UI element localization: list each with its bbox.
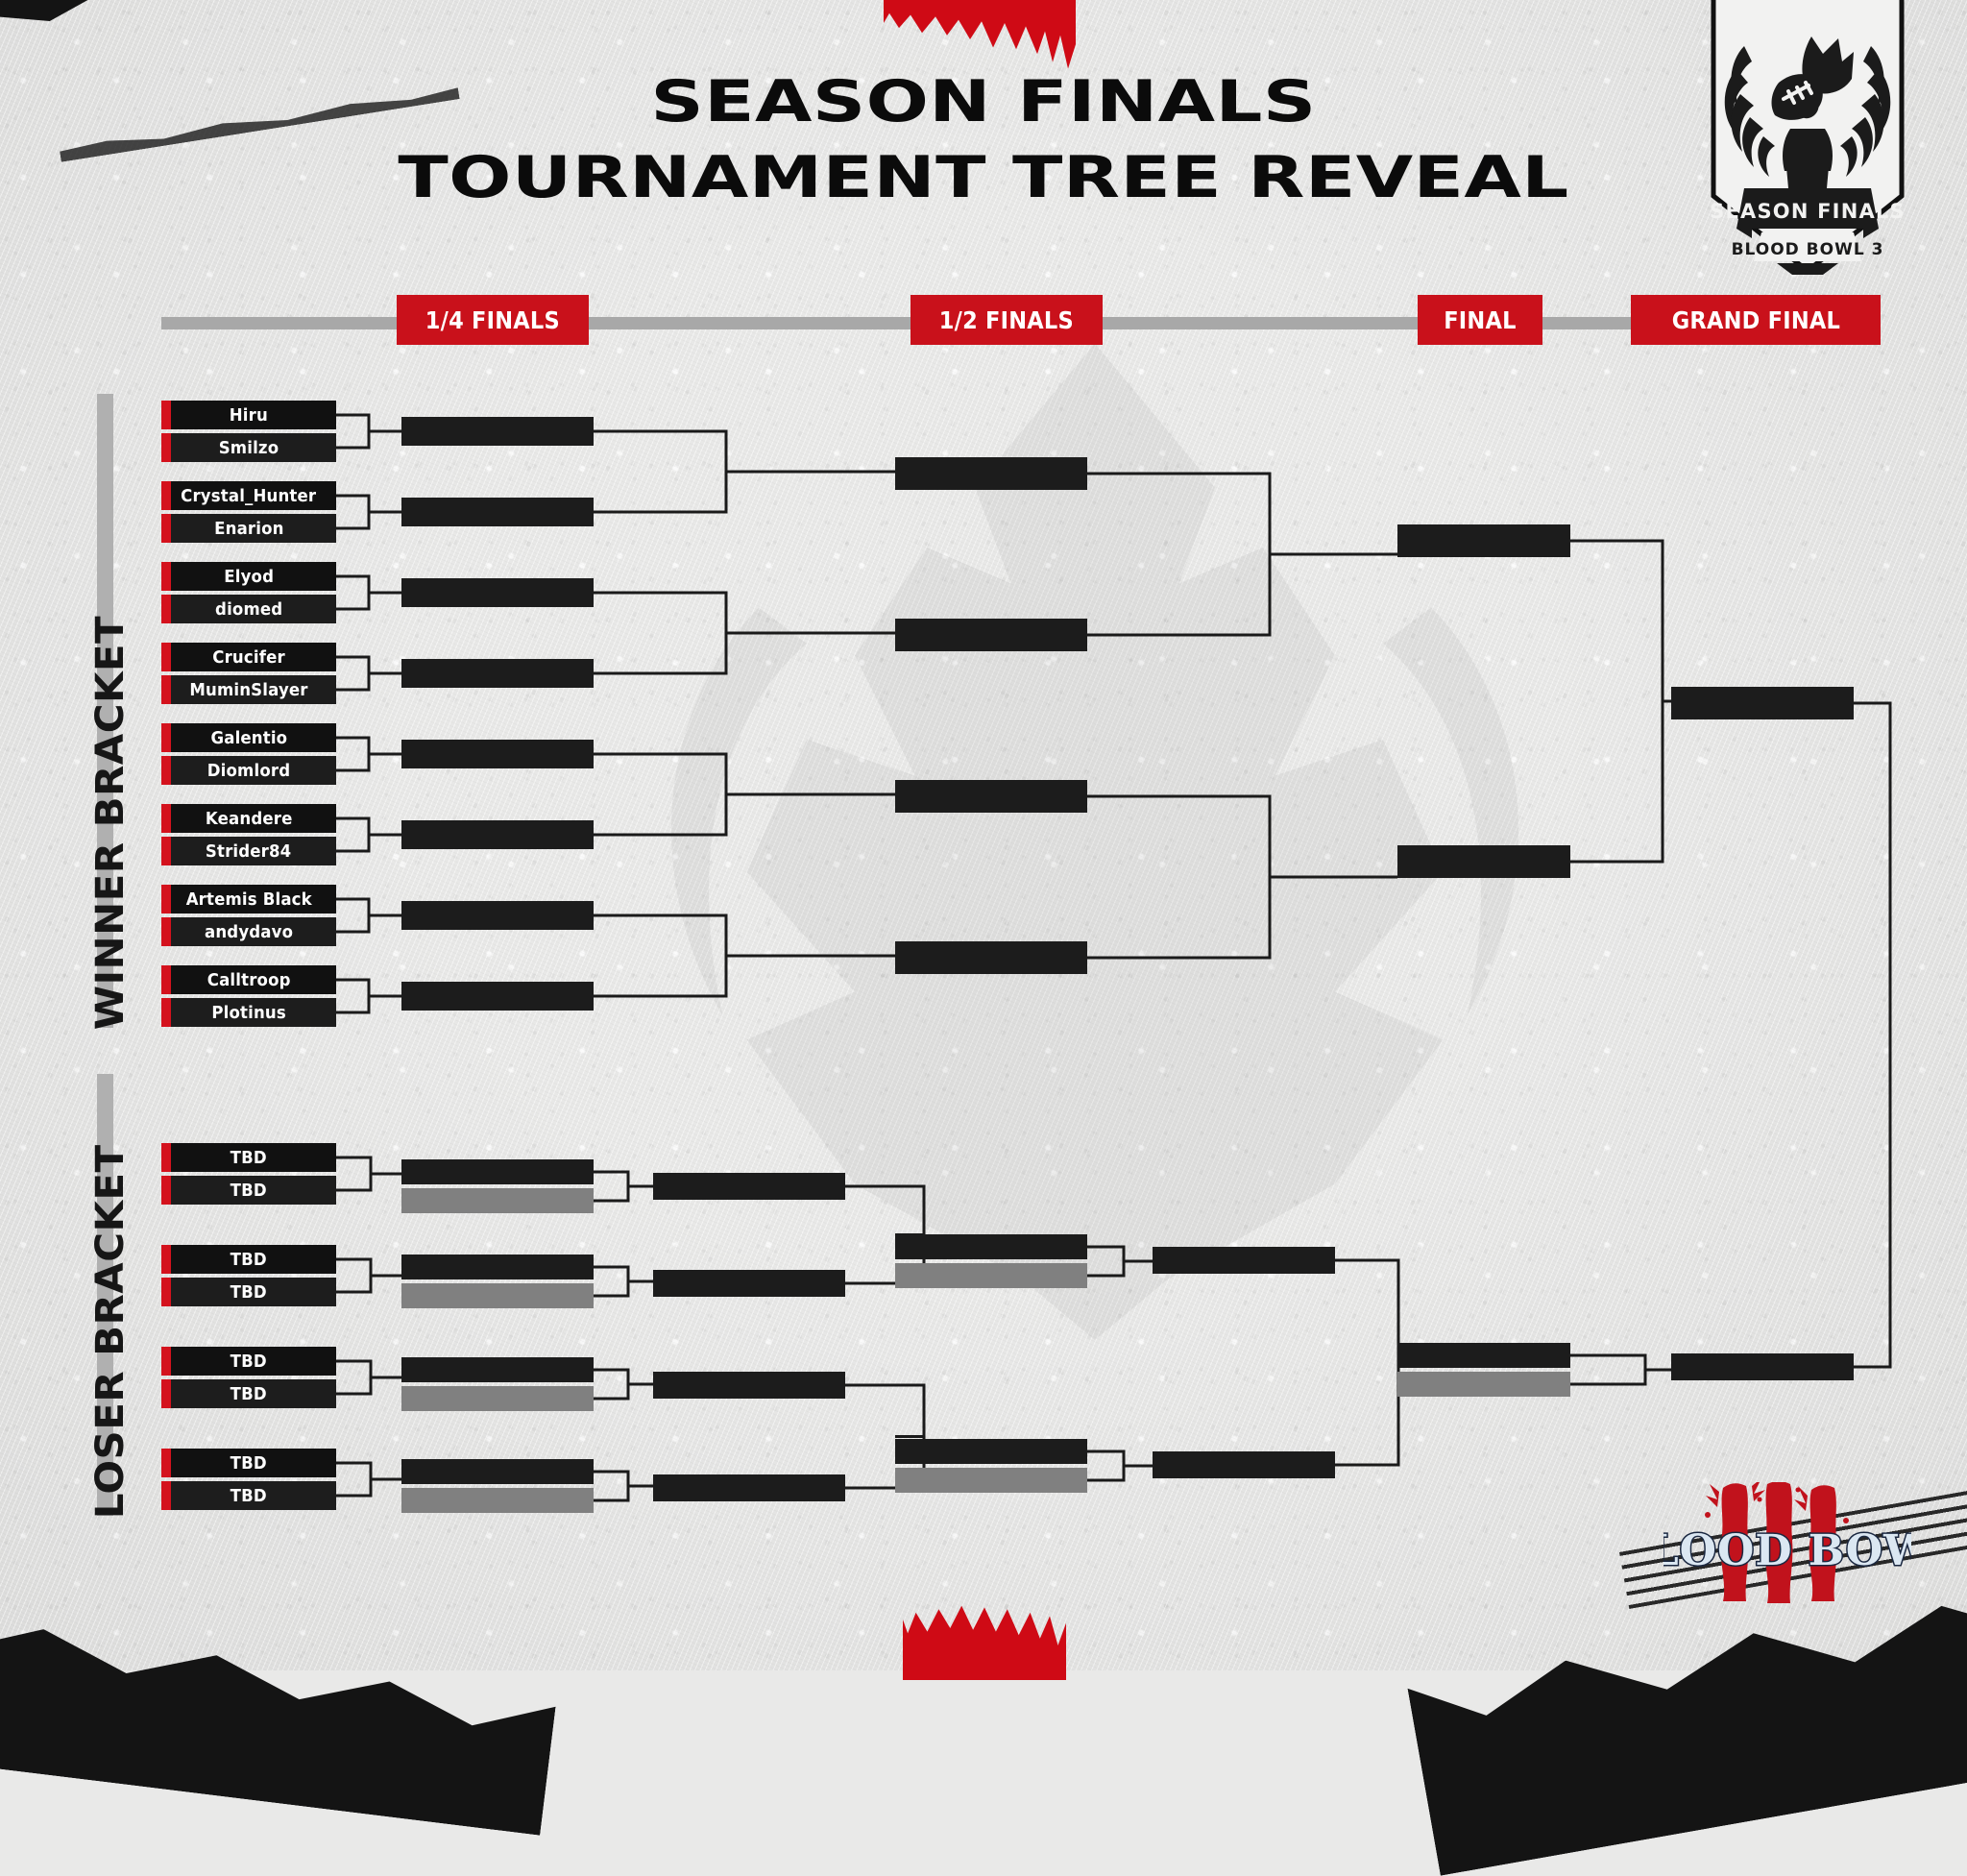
player-name: Artemis Black: [185, 889, 311, 910]
seed-slot-11[interactable]: Keandere: [161, 804, 336, 833]
player-name: TBD: [231, 1282, 267, 1303]
seed-slot-12[interactable]: Strider84: [161, 837, 336, 865]
player-name: Hiru: [230, 405, 268, 426]
seed-slot-9[interactable]: Galentio: [161, 723, 336, 752]
winner-quarterfinal-slot-1[interactable]: [401, 417, 594, 446]
loser-seed-slot-6[interactable]: TBD: [161, 1379, 336, 1408]
round-badge-semi-finals[interactable]: 1/2 FINALS: [911, 295, 1103, 345]
grand-final-winner-slot[interactable]: [1671, 687, 1854, 719]
loser-round4-gray-slot-1[interactable]: [895, 1263, 1087, 1288]
player-name: diomed: [215, 599, 282, 620]
loser-round2-black-slot-3[interactable]: [401, 1357, 594, 1382]
seed-slot-6[interactable]: diomed: [161, 595, 336, 623]
loser-round2-gray-slot-3[interactable]: [401, 1386, 594, 1411]
loser-round4-gray-slot-2[interactable]: [895, 1468, 1087, 1493]
loser-round2-black-slot-1[interactable]: [401, 1159, 594, 1184]
winner-bracket-label: WINNER BRACKET: [88, 625, 133, 1020]
loser-seed-slot-7[interactable]: TBD: [161, 1449, 336, 1477]
player-name: TBD: [231, 1384, 267, 1404]
player-name: Calltroop: [207, 970, 291, 990]
player-name: Keandere: [206, 809, 293, 829]
loser-round6-gray-slot[interactable]: [1397, 1372, 1570, 1397]
loser-seed-slot-5[interactable]: TBD: [161, 1347, 336, 1376]
winner-quarterfinal-slot-5[interactable]: [401, 740, 594, 768]
winner-semifinal-slot-4[interactable]: [895, 941, 1087, 974]
player-name: Crystal_Hunter: [181, 486, 316, 506]
seed-slot-10[interactable]: Diomlord: [161, 756, 336, 785]
loser-bracket-label: LOSER BRACKET: [88, 1154, 133, 1510]
winner-final-slot-2[interactable]: [1397, 845, 1570, 878]
winner-quarterfinal-slot-3[interactable]: [401, 578, 594, 607]
loser-round2-black-slot-2[interactable]: [401, 1255, 594, 1279]
round-header-bar: 1/4 FINALS 1/2 FINALS FINAL GRAND FINAL: [161, 312, 1881, 331]
loser-seed-slot-8[interactable]: TBD: [161, 1481, 336, 1510]
seed-slot-4[interactable]: Enarion: [161, 514, 336, 543]
loser-round6-black-slot[interactable]: [1397, 1343, 1570, 1368]
player-name: TBD: [231, 1148, 267, 1168]
player-name: Plotinus: [211, 1003, 286, 1023]
loser-round2-gray-slot-4[interactable]: [401, 1488, 594, 1513]
player-name: Crucifer: [212, 647, 285, 668]
player-name: Strider84: [206, 841, 291, 862]
seed-slot-3[interactable]: Crystal_Hunter: [161, 481, 336, 510]
round-badge-quarter-finals[interactable]: 1/4 FINALS: [397, 295, 589, 345]
player-name: TBD: [231, 1453, 267, 1474]
loser-seed-slot-3[interactable]: TBD: [161, 1245, 336, 1274]
player-name: TBD: [231, 1181, 267, 1201]
loser-round2-gray-slot-1[interactable]: [401, 1188, 594, 1213]
winner-quarterfinal-slot-6[interactable]: [401, 820, 594, 849]
player-name: TBD: [231, 1352, 267, 1372]
player-name: andydavo: [205, 922, 293, 942]
seed-slot-8[interactable]: MuminSlayer: [161, 675, 336, 704]
winner-semifinal-slot-3[interactable]: [895, 780, 1087, 813]
winner-semifinal-slot-2[interactable]: [895, 619, 1087, 651]
loser-round3-slot-2[interactable]: [653, 1270, 845, 1297]
round-badge-final[interactable]: FINAL: [1418, 295, 1542, 345]
paper-background: [0, 0, 1967, 1670]
loser-round3-slot-1[interactable]: [653, 1173, 845, 1200]
player-name: TBD: [231, 1250, 267, 1270]
seed-slot-5[interactable]: Elyod: [161, 562, 336, 591]
seed-slot-1[interactable]: Hiru: [161, 401, 336, 429]
loser-round2-gray-slot-2[interactable]: [401, 1283, 594, 1308]
winner-quarterfinal-slot-2[interactable]: [401, 498, 594, 526]
winner-quarterfinal-slot-8[interactable]: [401, 982, 594, 1011]
winner-semifinal-slot-1[interactable]: [895, 457, 1087, 490]
player-name: MuminSlayer: [189, 680, 307, 700]
blood-bowl-wordmark: BLOOD BOWL: [1663, 1526, 1911, 1575]
player-name: TBD: [231, 1486, 267, 1506]
seed-slot-13[interactable]: Artemis Black: [161, 885, 336, 914]
seed-slot-14[interactable]: andydavo: [161, 917, 336, 946]
player-name: Smilzo: [219, 438, 279, 458]
loser-round4-black-slot-2[interactable]: [895, 1439, 1087, 1464]
player-name: Enarion: [214, 519, 283, 539]
season-finals-crest-logo: SEASON FINALS BLOOD BOWL 3: [1708, 0, 1907, 275]
winner-quarterfinal-slot-4[interactable]: [401, 659, 594, 688]
crest-banner-top-text: SEASON FINALS: [1710, 200, 1906, 223]
loser-seed-slot-2[interactable]: TBD: [161, 1176, 336, 1205]
seed-slot-7[interactable]: Crucifer: [161, 643, 336, 671]
loser-round3-slot-4[interactable]: [653, 1474, 845, 1501]
seed-slot-2[interactable]: Smilzo: [161, 433, 336, 462]
crest-banner-bottom-text: BLOOD BOWL 3: [1732, 240, 1884, 259]
winner-quarterfinal-slot-7[interactable]: [401, 901, 594, 930]
seed-slot-15[interactable]: Calltroop: [161, 965, 336, 994]
loser-seed-slot-1[interactable]: TBD: [161, 1143, 336, 1172]
loser-round2-black-slot-4[interactable]: [401, 1459, 594, 1484]
loser-round4-black-slot-1[interactable]: [895, 1234, 1087, 1259]
loser-round7-slot[interactable]: [1671, 1353, 1854, 1380]
loser-round5-slot-2[interactable]: [1153, 1451, 1335, 1478]
player-name: Elyod: [224, 567, 274, 587]
seed-slot-16[interactable]: Plotinus: [161, 998, 336, 1027]
loser-round5-slot-1[interactable]: [1153, 1247, 1335, 1274]
round-badge-grand-final[interactable]: GRAND FINAL: [1631, 295, 1881, 345]
winner-final-slot-1[interactable]: [1397, 524, 1570, 557]
player-name: Galentio: [210, 728, 287, 748]
loser-seed-slot-4[interactable]: TBD: [161, 1278, 336, 1306]
player-name: Diomlord: [207, 761, 290, 781]
blood-bowl-logo: BLOOD BOWL: [1663, 1482, 1911, 1607]
loser-round3-slot-3[interactable]: [653, 1372, 845, 1399]
